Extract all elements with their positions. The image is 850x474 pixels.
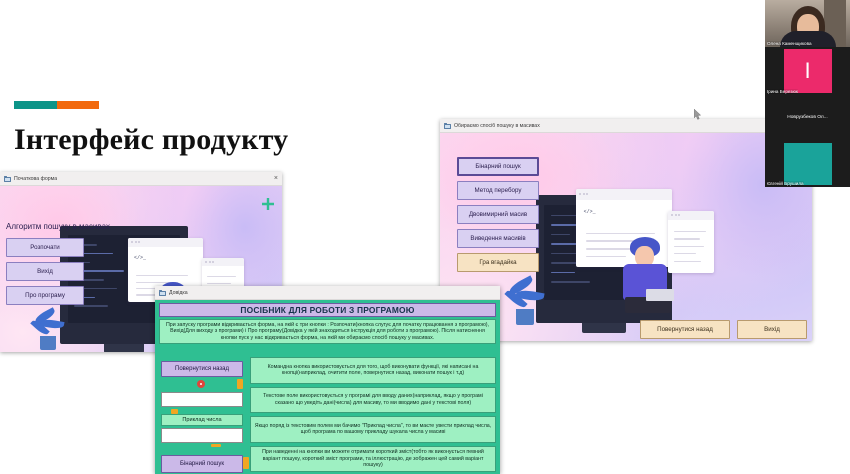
person-graphic [618, 237, 684, 323]
help-input-1[interactable] [161, 392, 243, 407]
button-rozpochaty[interactable]: Розпочати [6, 238, 84, 257]
plant-graphic [40, 336, 56, 350]
plant-graphic [516, 309, 534, 325]
help-intro-text: При запуску програми відкривається форма… [159, 319, 496, 344]
video-tile-1[interactable]: Олена Каменщикова [765, 0, 850, 47]
window-help-title: Довідка [169, 290, 188, 296]
help-body: ПОСІБНИК ДЛЯ РОБОТИ З ПРОГРАМОЮ При запу… [155, 300, 500, 474]
button-metod-pereboru[interactable]: Метод перебору [457, 181, 539, 200]
folder-icon [444, 123, 451, 129]
button-binarnyi-poshuk[interactable]: Бінарний пошук [457, 157, 539, 176]
help-grid: Повернутися назад Приклад числа Бінарний… [159, 357, 496, 472]
accent-divider [14, 101, 99, 109]
help-heading: ПОСІБНИК ДЛЯ РОБОТИ З ПРОГРАМОЮ [159, 303, 496, 317]
participant-name: Ірина Березюк [767, 89, 798, 94]
participant-avatar: І [784, 49, 832, 93]
close-icon[interactable]: × [274, 175, 278, 182]
participant-avatar [784, 143, 832, 185]
window-help[interactable]: Довідка ПОСІБНИК ДЛЯ РОБОТИ З ПРОГРАМОЮ … [155, 286, 500, 474]
help-example-label: Приклад числа [161, 414, 243, 426]
folder-icon [159, 290, 166, 296]
window-help-titlebar[interactable]: Довідка [155, 286, 500, 300]
underline-marker-icon [211, 444, 221, 447]
help-back-button[interactable]: Повернутися назад [161, 361, 243, 377]
screenshot-root: Інтерфейс продукту Початкова форма × [0, 0, 850, 474]
button-vyhid[interactable]: Вихід [6, 262, 84, 281]
help-description-column: Командна кнопка використовується для тог… [250, 357, 496, 472]
window-search-choice-titlebar[interactable]: Обираємо спосіб пошуку в масивах [440, 119, 812, 133]
button-dvovymirnyi-masyv[interactable]: Двовимирний масив [457, 205, 539, 224]
help-row-2: Текстове поле використовується у програм… [250, 387, 496, 414]
decorative-blob-right [180, 186, 282, 302]
help-input-2[interactable] [161, 428, 243, 443]
pause-marker-icon [237, 379, 243, 389]
page-title: Інтерфейс продукту [14, 123, 288, 157]
button-povernutysia-nazad[interactable]: Повернутися назад [640, 320, 730, 339]
window-start-form-title: Початкова форма [14, 176, 57, 182]
participant-name: Олена Каменщикова [767, 41, 812, 46]
accent-segment-orange [57, 101, 100, 109]
window-start-form-titlebar[interactable]: Початкова форма × [0, 172, 282, 186]
window-search-choice-title: Обираємо спосіб пошуку в масивах [454, 123, 540, 129]
accent-segment-teal [14, 101, 57, 109]
participant-name: Новрузбеков Ол... [787, 115, 827, 120]
avatar-initial: І [804, 58, 810, 84]
video-call-panel[interactable]: Олена Каменщикова І Ірина Березюк Новруз… [765, 0, 850, 187]
button-gra-vgadaika[interactable]: Гра вгадайка [457, 253, 539, 272]
help-search-button[interactable]: Бінарний пошук [161, 455, 243, 473]
help-row-1: Командна кнопка використовується для тог… [250, 357, 496, 384]
help-controls-column: Повернутися назад Приклад числа Бінарний… [159, 357, 247, 472]
start-form-heading: Алгоритм пошуку в масивах [6, 222, 110, 231]
video-tile-4[interactable]: Євгеній Брушила [765, 140, 850, 187]
video-tile-2[interactable]: І Ірина Березюк [765, 47, 850, 95]
button-pro-programu[interactable]: Про програму [6, 286, 84, 305]
button-vyhid[interactable]: Вихід [737, 320, 807, 339]
record-marker-icon [197, 380, 205, 388]
participant-camera-feed [765, 0, 850, 47]
presentation-slide: Інтерфейс продукту Початкова форма × [0, 0, 850, 474]
side-marker-icon [243, 457, 249, 469]
button-vyvedennia-masyviv[interactable]: Виведення масивів [457, 229, 539, 248]
video-tile-3[interactable]: Новрузбеков Ол... [765, 95, 850, 140]
mouse-pointer-icon [694, 109, 701, 119]
help-row-4: При наведенні на кнопки ви можете отрима… [250, 446, 496, 473]
folder-icon [4, 176, 11, 182]
help-row-3: Якщо поряд із текстовим полем ми бачимо … [250, 416, 496, 443]
participant-name: Євгеній Брушила [767, 181, 804, 186]
